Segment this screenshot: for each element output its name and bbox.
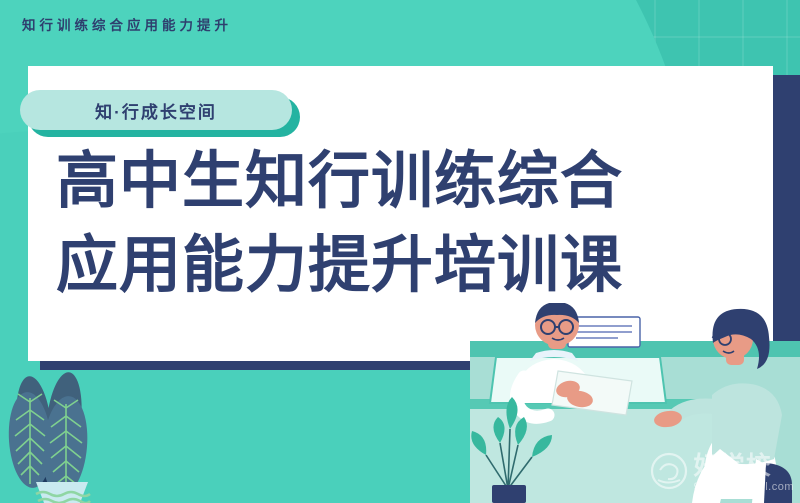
page-title: 高中生知行训练综合 应用能力提升培训课 bbox=[56, 140, 756, 308]
illustration-scene bbox=[470, 303, 800, 503]
header-title: 知行训练综合应用能力提升 bbox=[22, 14, 232, 34]
potted-leaf-plant bbox=[2, 358, 122, 503]
header-strip: 知行训练综合应用能力提升 bbox=[0, 0, 800, 48]
title-line-2: 应用能力提升培训课 bbox=[56, 224, 756, 308]
badge-pill: 知·行成长空间 bbox=[20, 90, 292, 130]
title-line-1: 高中生知行训练综合 bbox=[56, 140, 756, 224]
badge-label: 知·行成长空间 bbox=[95, 98, 217, 123]
badge-container: 知·行成长空间 bbox=[20, 90, 292, 130]
poster-canvas: 知行训练综合应用能力提升 bbox=[0, 0, 800, 503]
